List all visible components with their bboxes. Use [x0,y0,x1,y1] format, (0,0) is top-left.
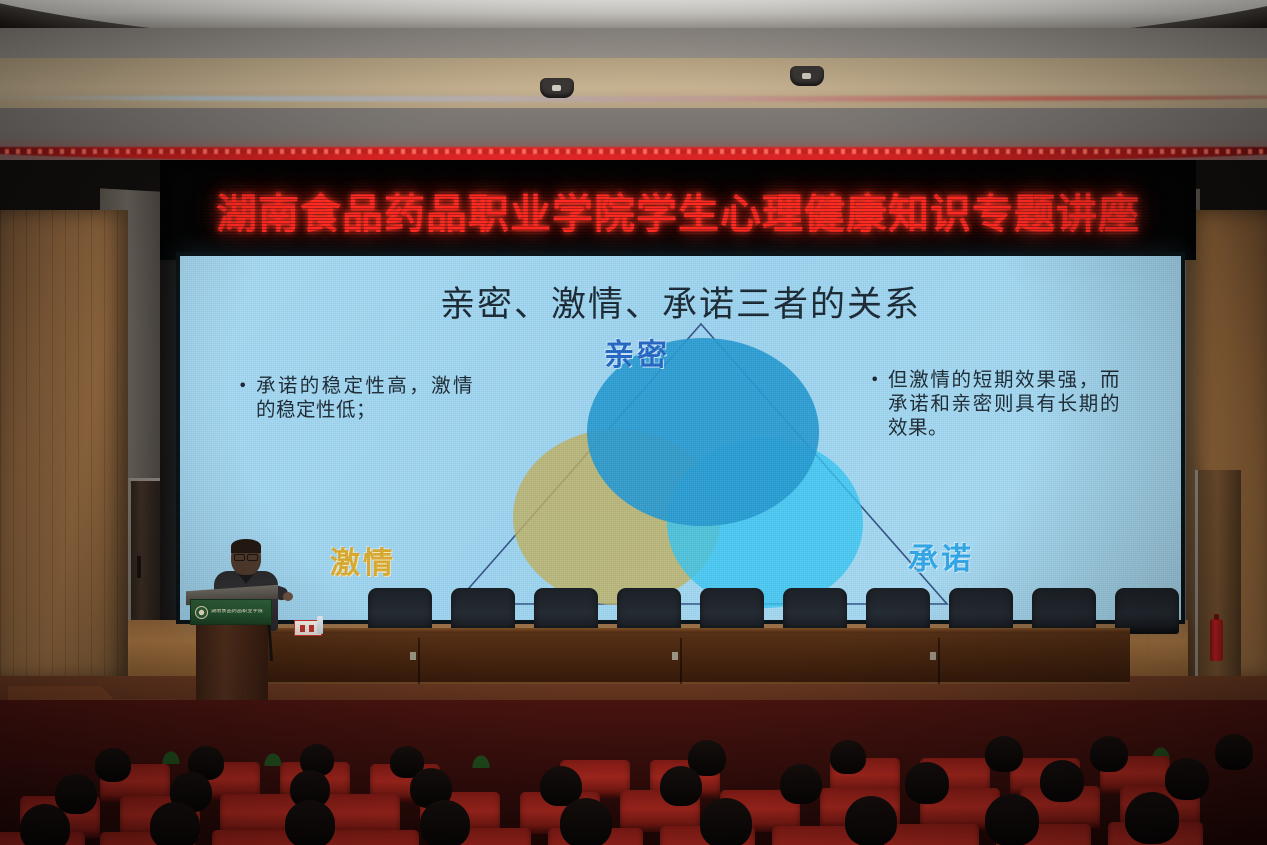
audience-head [150,802,200,845]
left-wood-wall [0,210,128,680]
school-logo-icon [195,606,208,619]
lecture-hall-photo: 湖南食品药品职业学院学生心理健康知识专题讲座 亲密、激情、承诺三者的关系 • 承… [0,0,1267,845]
venn-label-intimacy: 亲密 [604,330,670,374]
audience-head [560,798,612,845]
led-banner-text: 湖南食品药品职业学院学生心理健康知识专题讲座 [216,180,1140,240]
projection-screen: 亲密、激情、承诺三者的关系 • 承诺的稳定性高，激情的稳定性低； • 但激情的短… [176,252,1185,624]
water-bottle [317,616,323,634]
potted-plant-icon [470,752,492,768]
audience-head [700,798,752,845]
seat [884,824,979,845]
podium-sign: 湖南食品药品职业学院 [190,599,272,625]
venn-label-commitment: 承诺 [908,534,974,578]
audience-area [0,700,1267,845]
table-seam [680,638,682,684]
audience-head [660,766,702,806]
audience-head [20,804,70,845]
audience-head [845,796,897,845]
presentation-slide: 亲密、激情、承诺三者的关系 • 承诺的稳定性高，激情的稳定性低； • 但激情的短… [180,256,1181,620]
audience-head [1040,760,1084,802]
audience-head [1090,736,1128,772]
audience-head [985,736,1023,772]
audience-head [1215,734,1253,770]
audience-head [285,800,335,845]
table-knob [672,652,678,660]
audience-head [985,794,1039,845]
speaker-hand [283,592,293,601]
audience-head [830,740,866,774]
led-banner: 湖南食品药品职业学院学生心理健康知识专题讲座 [160,160,1196,260]
conference-table [268,628,1130,684]
bullet-marker-icon: • [238,374,248,397]
ceiling-spotlight-icon [790,66,824,86]
speaker-hair [231,539,261,553]
audience-head [1125,792,1179,844]
venn-label-passion: 激情 [330,538,396,582]
audience-head [55,774,97,814]
audience-head [420,800,470,845]
table-seam [418,638,420,684]
audience-head [1165,758,1209,800]
audience-head [780,764,822,804]
venn-diagram [435,316,955,616]
podium-sign-text: 湖南食品药品职业学院 [211,609,263,614]
ceiling-spotlight-icon [540,78,574,98]
speaker-glasses-icon [234,554,258,559]
audience-head [905,762,949,804]
table-seam [938,638,940,684]
table-knob [410,652,416,660]
potted-plant-icon [160,748,182,764]
table-knob [930,652,936,660]
fire-extinguisher-icon [1210,619,1223,661]
seat [324,830,419,845]
audience-head [95,748,131,782]
